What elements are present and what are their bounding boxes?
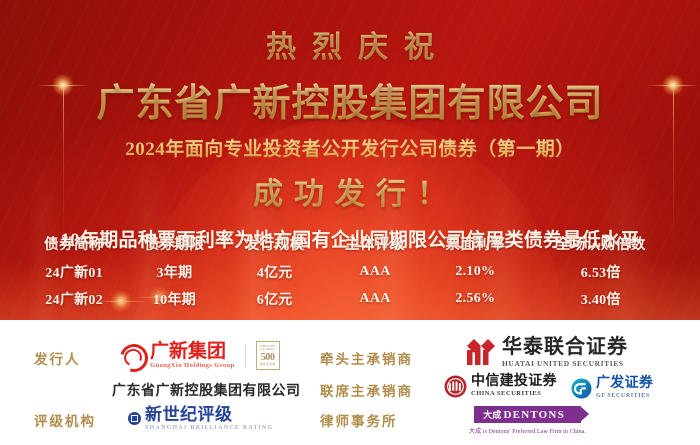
hero-text-block: 热烈庆祝 广东省广新控股集团有限公司 2024年面向专业投资者公开发行公司债券（… bbox=[0, 0, 700, 252]
brilliance-logo-cn: 新世纪评级 bbox=[145, 406, 273, 423]
company-name-heading: 广东省广新控股集团有限公司 bbox=[0, 72, 700, 127]
footer-partners-section: 发行人 广新集团 GuangXin Holdings Group FORTUNE… bbox=[0, 320, 700, 445]
guangxin-logo-en: GuangXin Holdings Group bbox=[150, 363, 235, 370]
cell-issuer-rating: AAA bbox=[325, 258, 425, 285]
column-header-bond-name: 债券简称 bbox=[24, 228, 124, 258]
brilliance-emblem-icon bbox=[128, 412, 141, 425]
citic-logo-en: CHINA SECURITIES bbox=[471, 391, 557, 398]
gf-logo-cn: 广发证券 bbox=[596, 377, 653, 391]
cell-issue-size: 4亿元 bbox=[225, 258, 325, 285]
badge-line-3: 500 bbox=[261, 352, 275, 363]
bond-issuance-poster: 热烈庆祝 广东省广新控股集团有限公司 2024年面向专业投资者公开发行公司债券（… bbox=[0, 0, 700, 445]
footer-issuer-row: 发行人 bbox=[34, 348, 81, 368]
label-issuer: 发行人 bbox=[34, 348, 81, 368]
huatai-logo-cn: 华泰联合证券 bbox=[502, 337, 628, 357]
column-header-bond-term: 债券期限 bbox=[124, 228, 224, 258]
huatai-logo: 华泰联合证券 HUATAI UNITED SECURITIES bbox=[466, 337, 628, 368]
fortune-global-500-badge-icon: FORTUNE GLOBAL 500 世界五百强 bbox=[256, 341, 280, 370]
cell-coupon-rate: 2.10% bbox=[425, 258, 525, 285]
cell-bond-term: 3年期 bbox=[124, 258, 224, 285]
dentons-tagline: 大成 is Dentons' Preferred Law Firm in Chi… bbox=[469, 426, 586, 435]
table-row: 24广新02 10年期 6亿元 AAA 2.56% 3.40倍 bbox=[24, 285, 676, 312]
footer-law-firm-row: 律师事务所 bbox=[320, 410, 398, 430]
footer-lead-underwriter-row: 牵头主承销商 bbox=[320, 348, 413, 368]
guangxin-emblem-icon bbox=[118, 342, 145, 369]
bond-details-table: 债券简称 债券期限 发行规模 主体评级 票面利率 全场认购倍数 24广新01 3… bbox=[24, 228, 676, 312]
huatai-emblem-icon bbox=[466, 339, 496, 365]
cell-subscription-multiple: 6.53倍 bbox=[525, 258, 676, 285]
brilliance-logo-en: SHANGHAI BRILLIANCE RATING bbox=[145, 425, 273, 431]
gf-emblem-icon bbox=[571, 378, 592, 399]
column-header-coupon-rate: 票面利率 bbox=[425, 228, 525, 258]
citic-emblem-icon bbox=[444, 375, 467, 398]
dentons-logo: 大成 DENTONS 大成 is Dentons' Preferred Law … bbox=[469, 406, 586, 435]
issuer-full-name: 广东省广新控股集团有限公司 bbox=[112, 380, 301, 400]
congratulations-heading: 热烈庆祝 bbox=[0, 22, 700, 66]
cell-subscription-multiple: 3.40倍 bbox=[525, 285, 676, 312]
gf-securities-logo: 广发证券 GF SECURITIES bbox=[571, 377, 653, 399]
citic-securities-logo: 中信建投证券 CHINA SECURITIES bbox=[444, 375, 557, 398]
issue-subtitle: 2024年面向专业投资者公开发行公司债券（第一期） bbox=[0, 134, 700, 161]
badge-line-4: 世界五百强 bbox=[260, 363, 276, 366]
dentons-logo-cn: 大成 bbox=[483, 408, 501, 421]
cell-issuer-rating: AAA bbox=[325, 285, 425, 312]
table-row: 24广新01 3年期 4亿元 AAA 2.10% 6.53倍 bbox=[24, 258, 676, 285]
dentons-logo-en: DENTONS bbox=[504, 409, 565, 421]
footer-rating-agency-row: 评级机构 bbox=[34, 410, 96, 430]
cell-bond-name: 24广新02 bbox=[24, 285, 124, 312]
logo-divider bbox=[245, 344, 246, 368]
column-header-issue-size: 发行规模 bbox=[225, 228, 325, 258]
table-header-row: 债券简称 债券期限 发行规模 主体评级 票面利率 全场认购倍数 bbox=[24, 228, 676, 258]
footer-joint-underwriter-row: 联席主承销商 bbox=[320, 380, 413, 400]
huatai-logo-en: HUATAI UNITED SECURITIES bbox=[502, 360, 628, 368]
guangxin-logo: 广新集团 GuangXin Holdings Group FORTUNE GLO… bbox=[118, 341, 280, 370]
cell-bond-term: 10年期 bbox=[124, 285, 224, 312]
column-header-issuer-rating: 主体评级 bbox=[325, 228, 425, 258]
label-rating-agency: 评级机构 bbox=[34, 410, 96, 430]
shanghai-brilliance-logo: 新世纪评级 SHANGHAI BRILLIANCE RATING bbox=[128, 406, 273, 431]
cell-bond-name: 24广新01 bbox=[24, 258, 124, 285]
issuer-full-name-row: 广东省广新控股集团有限公司 bbox=[112, 380, 301, 400]
label-lead-underwriter: 牵头主承销商 bbox=[320, 348, 413, 368]
column-header-subscription-multiple: 全场认购倍数 bbox=[525, 228, 676, 258]
label-joint-underwriter: 联席主承销商 bbox=[320, 380, 413, 400]
cell-coupon-rate: 2.56% bbox=[425, 285, 525, 312]
gf-logo-en: GF SECURITIES bbox=[596, 393, 653, 399]
guangxin-logo-cn: 广新集团 bbox=[150, 342, 235, 361]
label-law-firm: 律师事务所 bbox=[320, 410, 398, 430]
cell-issue-size: 6亿元 bbox=[225, 285, 325, 312]
dentons-banner-icon: 大成 DENTONS bbox=[474, 406, 581, 423]
success-heading: 成功发行！ bbox=[0, 169, 700, 213]
citic-logo-cn: 中信建投证券 bbox=[471, 375, 557, 389]
